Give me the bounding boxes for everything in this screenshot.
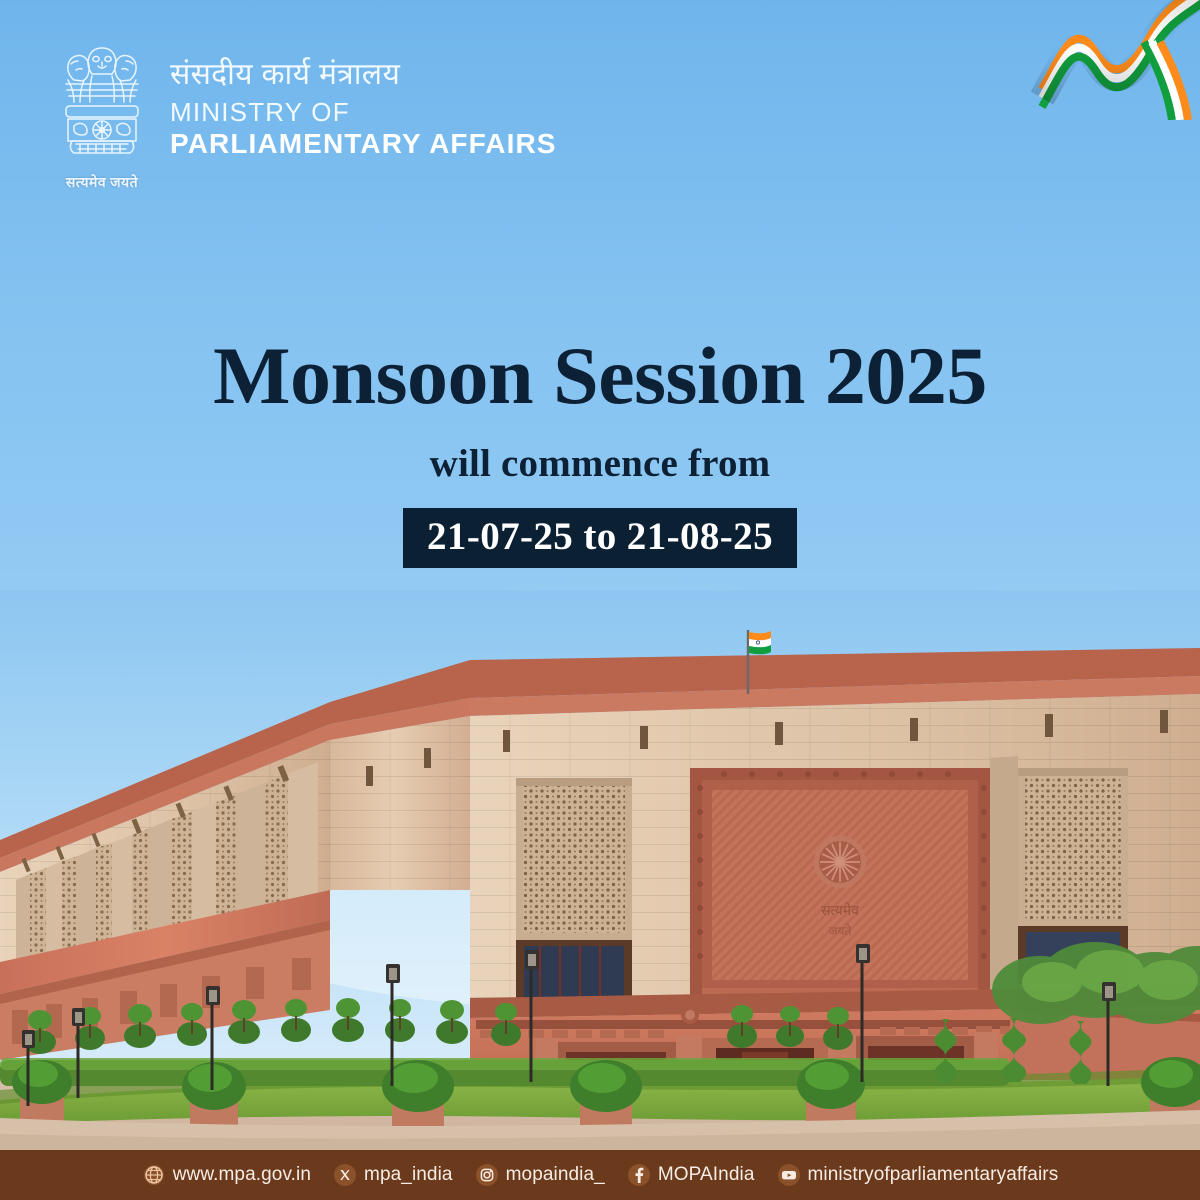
globe-icon	[142, 1163, 166, 1187]
footer-label-facebook: MOPAIndia	[658, 1164, 755, 1186]
page-title: Monsoon Session 2025	[0, 335, 1200, 417]
ministry-name-line1: MINISTRY OF	[170, 97, 557, 128]
footer-link-facebook[interactable]: MOPAIndia	[616, 1163, 766, 1187]
social-footer-bar: www.mpa.gov.in mpa_india mopaindia_	[0, 1150, 1200, 1200]
new-parliament-building-photo: सत्यमेव जयते	[0, 590, 1200, 1150]
instagram-icon	[475, 1163, 499, 1187]
footer-label-website: www.mpa.gov.in	[173, 1164, 311, 1186]
footer-link-instagram[interactable]: mopaindia_	[464, 1163, 616, 1187]
footer-label-youtube: ministryofparliamentaryaffairs	[808, 1164, 1059, 1186]
ministry-name-line2: PARLIAMENTARY AFFAIRS	[170, 128, 557, 160]
tricolour-ribbon-icon	[1030, 0, 1200, 120]
footer-link-x[interactable]: mpa_india	[322, 1163, 464, 1187]
headline-block: Monsoon Session 2025 will commence from …	[0, 335, 1200, 568]
footer-label-x: mpa_india	[364, 1164, 453, 1186]
svg-text:सत्यमेव: सत्यमेव	[821, 902, 859, 919]
ministry-name-hindi: संसदीय कार्य मंत्रालय	[170, 58, 557, 93]
footer-link-website[interactable]: www.mpa.gov.in	[131, 1163, 322, 1187]
headline-subtitle: will commence from	[0, 441, 1200, 486]
footer-label-instagram: mopaindia_	[506, 1164, 605, 1186]
footer-link-youtube[interactable]: ministryofparliamentaryaffairs	[766, 1163, 1070, 1187]
date-range-badge: 21-07-25 to 21-08-25	[403, 508, 797, 568]
state-emblem-icon	[54, 44, 150, 172]
ministry-header: सत्यमेव जयते संसदीय कार्य मंत्रालय MINIS…	[48, 44, 557, 192]
x-twitter-icon	[333, 1163, 357, 1187]
poster-canvas: सत्यमेव जयते संसदीय कार्य मंत्रालय MINIS…	[0, 0, 1200, 1200]
youtube-icon	[777, 1163, 801, 1187]
svg-text:जयते: जयते	[829, 924, 853, 938]
facebook-icon	[627, 1163, 651, 1187]
ashoka-chakra-emblem	[814, 836, 866, 888]
emblem-block: सत्यमेव जयते	[48, 44, 156, 192]
ministry-name-block: संसदीय कार्य मंत्रालय MINISTRY OF PARLIA…	[170, 44, 557, 160]
emblem-motto: सत्यमेव जयते	[66, 173, 138, 192]
